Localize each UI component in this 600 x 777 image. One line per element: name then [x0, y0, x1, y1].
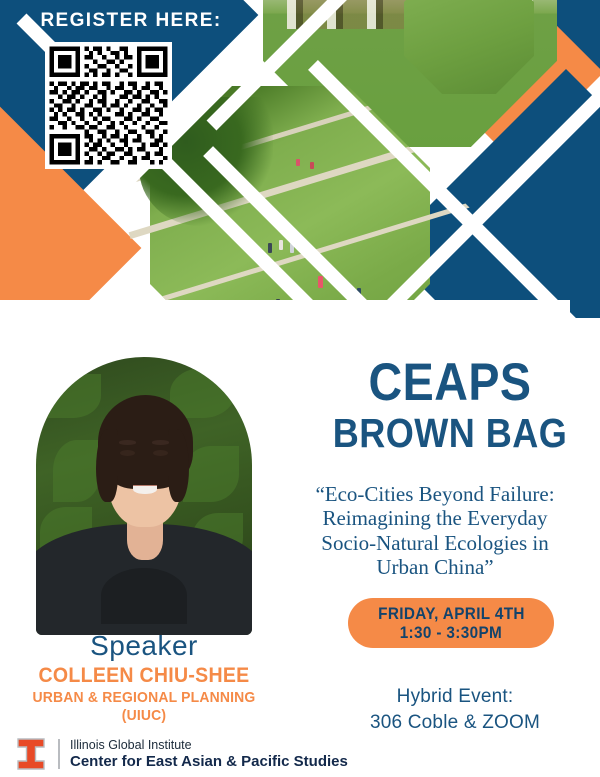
talk-title: “Eco-Cities Beyond Failure: Reimagining … [282, 482, 588, 579]
mosaic-bottom-gap [0, 300, 570, 318]
footer-branding: Illinois Global Institute Center for Eas… [14, 737, 348, 771]
eyebrow-left [119, 440, 136, 444]
hair-side-left [96, 429, 118, 501]
location-line-2: 306 Coble & ZOOM [330, 710, 580, 736]
speaker-portrait [36, 357, 252, 635]
date-time-badge: FRIDAY, APRIL 4TH 1:30 - 3:30PM [348, 598, 554, 648]
title-line-1: CEAPS [318, 358, 582, 408]
qr-code[interactable] [45, 42, 172, 169]
illinois-block-i-icon [14, 737, 48, 771]
speaker-department: URBAN & REGIONAL PLANNING [25, 689, 263, 706]
register-heading: REGISTER HERE: [26, 10, 236, 32]
person-figure [310, 162, 314, 169]
footer-org-parent: Illinois Global Institute [70, 738, 348, 753]
title-line-2: BROWN BAG [318, 414, 582, 453]
talk-title-line-3: Socio-Natural Ecologies in [282, 531, 588, 555]
event-date: FRIDAY, APRIL 4TH [378, 604, 525, 623]
speaker-institution: (UIUC) [25, 707, 263, 724]
block-i-logo [14, 737, 48, 771]
footer-org-name: Center for East Asian & Pacific Studies [70, 753, 348, 771]
speaker-name: COLLEEN CHIU-SHEE [25, 664, 263, 688]
eyebrow-right [152, 440, 169, 444]
speaker-label: Speaker [36, 630, 252, 662]
person-figure [279, 240, 283, 250]
person-figure [318, 276, 323, 288]
location-line-1: Hybrid Event: [330, 684, 580, 710]
person-figure [296, 159, 300, 166]
qr-code-image [45, 42, 172, 169]
talk-title-line-4: Urban China” [282, 555, 588, 579]
footer-divider [58, 739, 60, 769]
talk-title-line-1: “Eco-Cities Beyond Failure: [282, 482, 588, 506]
foliage-shape [53, 440, 101, 501]
event-location: Hybrid Event: 306 Coble & ZOOM [330, 684, 580, 735]
talk-title-line-2: Reimagining the Everyday [282, 506, 588, 530]
poster-title: CEAPS BROWN BAG [300, 358, 600, 452]
footer-text: Illinois Global Institute Center for Eas… [70, 738, 348, 770]
collar-shape [101, 568, 187, 624]
event-poster: REGISTER HERE: [0, 0, 600, 777]
event-time: 1:30 - 3:30PM [400, 623, 502, 642]
foliage-shape [45, 374, 101, 418]
person-figure [268, 243, 272, 253]
